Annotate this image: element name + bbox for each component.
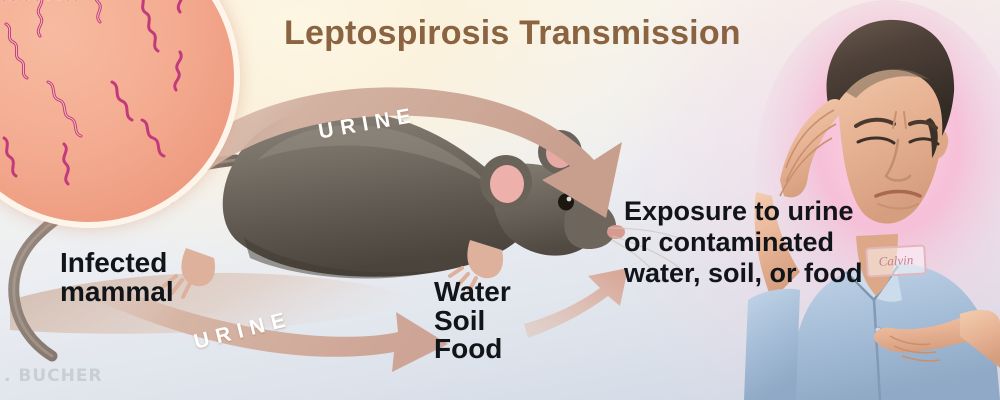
vehicle-line-1: Water <box>434 278 511 307</box>
exposure-line-3: water, soil, or food <box>624 258 863 289</box>
leptospirosis-transmission-infographic: Leptospira bacteria Leptospirosis Transm… <box>0 0 1000 400</box>
label-water-soil-food: Water Soil Food <box>434 278 511 364</box>
infected-mammal-line-1: Infected <box>60 249 174 278</box>
page-title: Leptospirosis Transmission <box>284 14 741 53</box>
bacteria-spirochete-icon <box>0 0 234 222</box>
bacteria-inset-circle: Leptospira bacteria <box>0 0 240 228</box>
infected-mammal-line-2: mammal <box>60 278 174 307</box>
exposure-line-2: or contaminated <box>624 227 863 258</box>
label-infected-mammal: Infected mammal <box>60 249 174 306</box>
label-exposure-outcome: Exposure to urine or contaminated water,… <box>624 196 863 288</box>
artist-credit: . BUCHER <box>4 366 103 386</box>
vehicle-line-3: Food <box>434 335 511 364</box>
vehicle-line-2: Soil <box>434 307 511 336</box>
exposure-line-1: Exposure to urine <box>624 196 863 227</box>
shirt-name-patch: Calvin <box>865 244 926 277</box>
arrow-vehicle-to-exposure <box>524 268 628 338</box>
bacteria-sub-label: bacteria <box>0 0 122 5</box>
